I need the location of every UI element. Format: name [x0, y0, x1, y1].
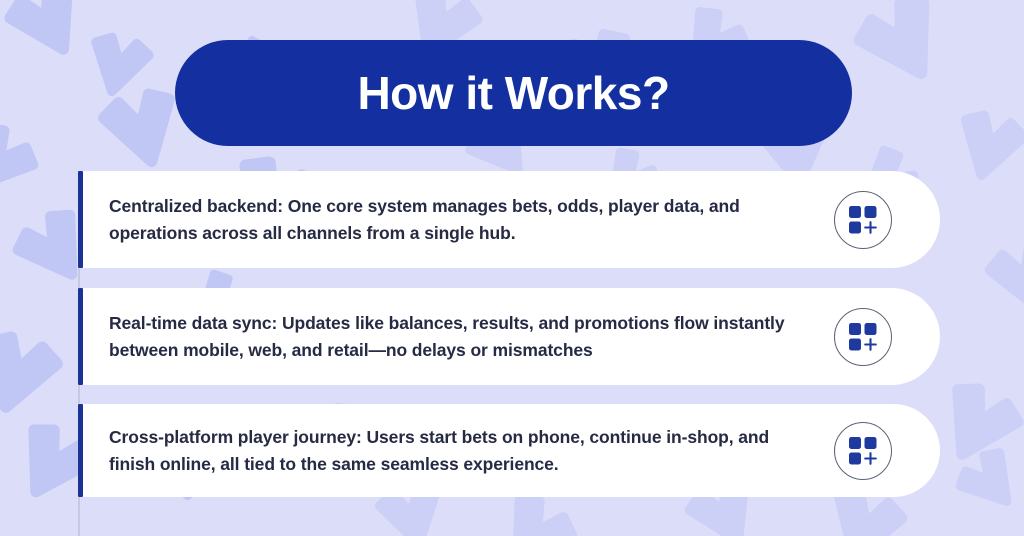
grid-plus-icon	[834, 308, 892, 366]
grid-plus-icon	[834, 422, 892, 480]
step-card[interactable]: Centralized backend: One core system man…	[78, 171, 940, 268]
card-body: Real-time data sync: Updates like balanc…	[78, 310, 834, 363]
step-description: Real-time data sync: Updates like balanc…	[109, 310, 814, 363]
card-accent-bar	[78, 404, 83, 497]
step-description: Centralized backend: One core system man…	[109, 193, 814, 246]
step-description: Cross-platform player journey: Users sta…	[109, 424, 814, 477]
card-accent-bar	[78, 171, 83, 268]
page-title-pill: How it Works?	[175, 40, 852, 146]
step-card[interactable]: Real-time data sync: Updates like balanc…	[78, 288, 940, 385]
card-body: Centralized backend: One core system man…	[78, 193, 834, 246]
page-title: How it Works?	[357, 70, 669, 116]
card-body: Cross-platform player journey: Users sta…	[78, 424, 834, 477]
grid-plus-icon	[834, 191, 892, 249]
card-accent-bar	[78, 288, 83, 385]
step-card[interactable]: Cross-platform player journey: Users sta…	[78, 404, 940, 497]
